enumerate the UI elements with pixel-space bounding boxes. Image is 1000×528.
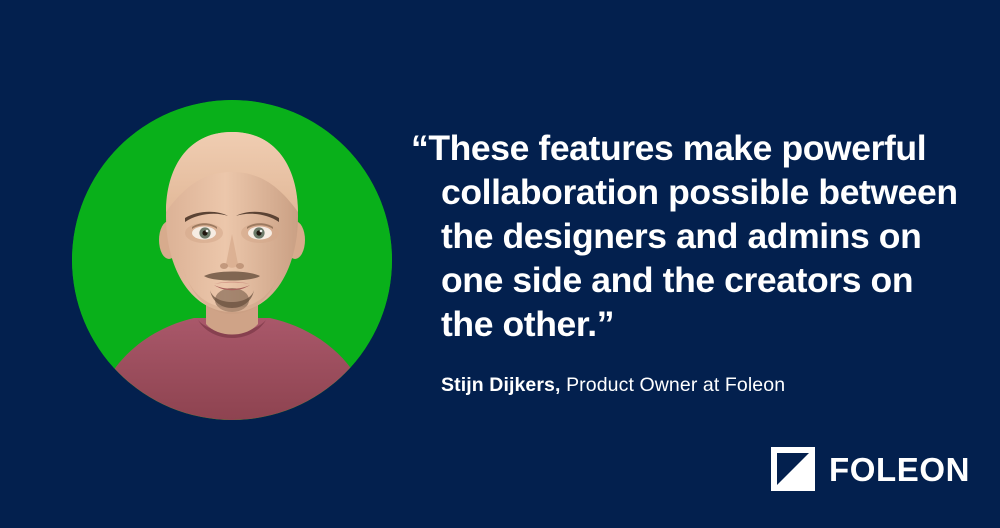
quote-text: “These features make powerful collaborat… <box>411 126 971 346</box>
testimonial-card: “These features make powerful collaborat… <box>0 0 1000 528</box>
portrait-avatar <box>72 100 392 420</box>
quote-block: “These features make powerful collaborat… <box>411 126 971 346</box>
foleon-wordmark: FOLEON <box>829 453 970 486</box>
foleon-logo: FOLEON <box>771 447 970 491</box>
foleon-logo-mark-icon <box>771 447 815 491</box>
attribution-role: Product Owner at Foleon <box>566 374 785 396</box>
portrait-illustration <box>72 100 392 420</box>
attribution: Stijn Dijkers, Product Owner at Foleon <box>441 372 785 398</box>
attribution-person: Stijn Dijkers, <box>441 374 561 396</box>
